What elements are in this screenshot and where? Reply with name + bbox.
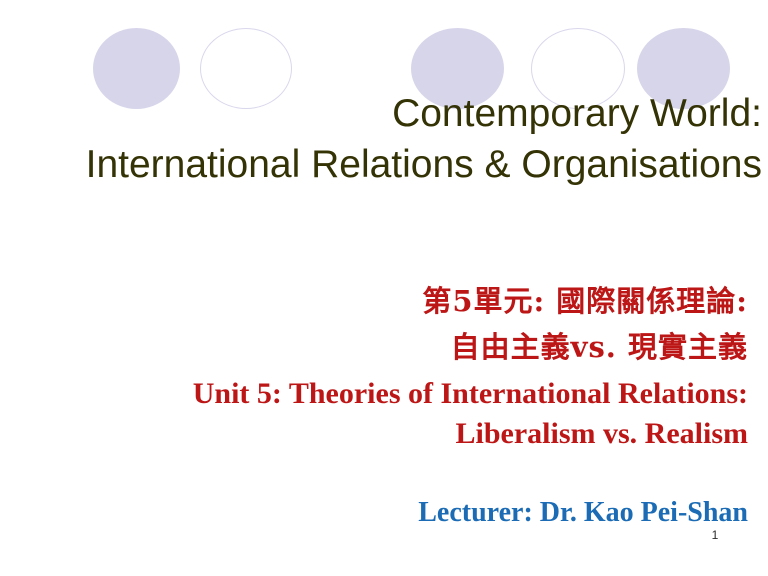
slide-number: 1 [700, 528, 730, 542]
slide-title-line-1: Contemporary World: [8, 88, 762, 139]
subtitle-chinese-line-1: 第5單元: 國際關係理論: [100, 278, 748, 324]
presentation-slide: Contemporary World: International Relati… [0, 0, 768, 576]
lecturer-credit: Lecturer: Dr. Kao Pei-Shan [100, 496, 748, 530]
subtitle-chinese-line-2: 自由主義vs. 現實主義 [100, 324, 748, 370]
slide-title: Contemporary World: International Relati… [8, 88, 762, 190]
subtitle-english-line-2: Liberalism vs. Realism [100, 414, 748, 454]
slide-subtitle: 第5單元: 國際關係理論: 自由主義vs. 現實主義 Unit 5: Theor… [100, 278, 748, 454]
slide-title-line-2: International Relations & Organisations [8, 139, 762, 190]
subtitle-english-line-1: Unit 5: Theories of International Relati… [100, 374, 748, 414]
